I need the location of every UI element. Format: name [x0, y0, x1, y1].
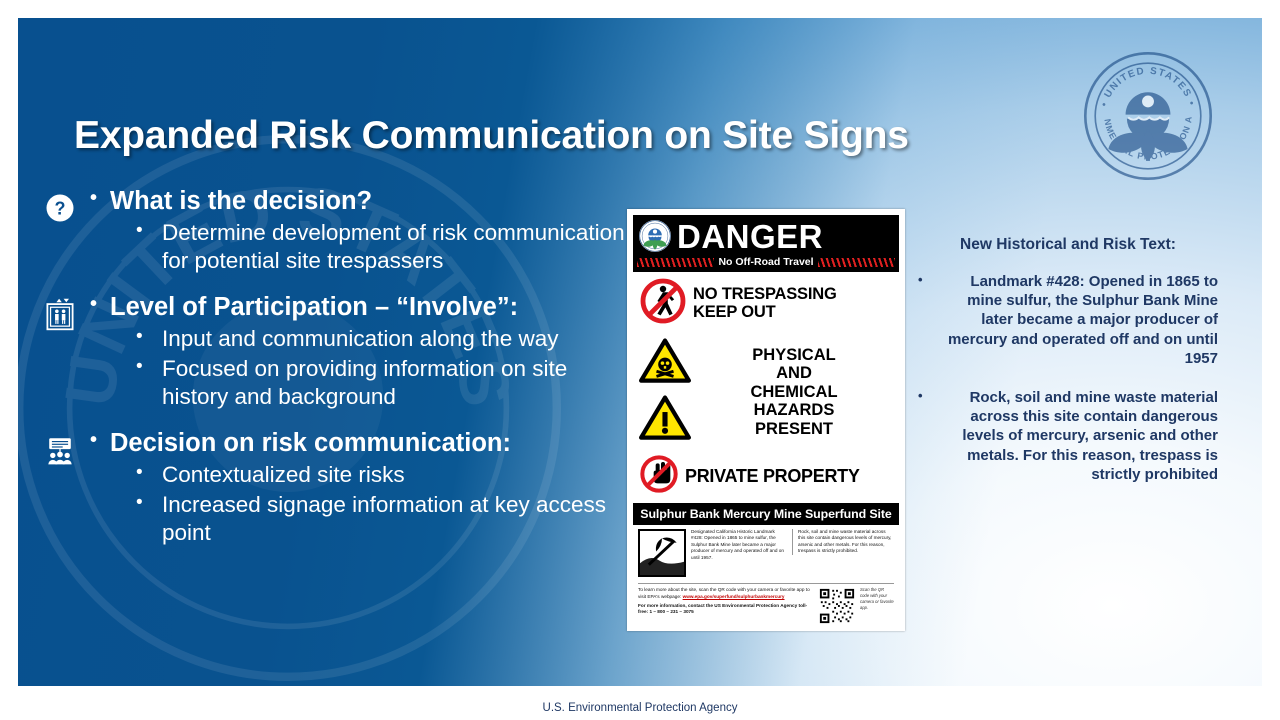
sign-sub-banner: No Off-Road Travel [633, 255, 899, 272]
sub-bullet-text: Increased signage information at key acc… [162, 491, 632, 549]
qr-code-icon [818, 587, 856, 625]
mine-pickaxe-icon [638, 529, 686, 577]
bullet-heading-text: Level of Participation – “Involve”: [110, 292, 518, 323]
sign-sub-banner-text: No Off-Road Travel [718, 256, 813, 268]
sign-info-right-text: Rock, soil and mine waste material acros… [792, 529, 894, 555]
list-item: • Input and communication along the way [136, 325, 632, 354]
sub-bullet-list: • Input and communication along the way … [136, 325, 632, 412]
sub-bullet-text: Input and communication along the way [162, 325, 559, 354]
sign-info-panel: Designated California Historic Landmark … [633, 525, 899, 581]
right-panel-item-text: Rock, soil and mine waste material acros… [934, 388, 1218, 484]
bullet-heading-text: What is the decision? [110, 186, 372, 217]
sub-bullet-text: Contextualized site risks [162, 461, 405, 490]
bullet-heading: • What is the decision? [90, 186, 632, 217]
no-entry-hand-icon [639, 454, 679, 499]
bullet-heading-text: Decision on risk communication: [110, 428, 511, 459]
hatch-stripes-right-icon [818, 258, 895, 267]
hazard-line: PRESENT [695, 420, 893, 438]
sub-bullet-text: Determine development of risk communicat… [162, 219, 632, 277]
presentation-audience-icon [42, 432, 78, 468]
hazard-line: CHEMICAL [695, 383, 893, 401]
bullet-group-decision: ? • What is the decision? • Determine de… [32, 186, 632, 276]
bullet-heading: • Level of Participation – “Involve”: [90, 292, 632, 323]
bullet-marker: • [918, 388, 934, 405]
bullet-marker: • [918, 272, 934, 289]
list-item: • Landmark #428: Opened in 1865 to mine … [918, 272, 1218, 368]
sign-hazard-text: PHYSICAL AND CHEMICAL HAZARDS PRESENT [695, 346, 893, 438]
hazard-line: AND [695, 364, 893, 382]
sub-bullet-marker: • [136, 325, 162, 350]
sign-footer-line-2: For more information, contact the US Env… [638, 603, 814, 617]
list-item: • Determine development of risk communic… [136, 219, 632, 277]
question-mark-circle-icon: ? [42, 190, 78, 226]
sign-site-name-bar: Sulphur Bank Mercury Mine Superfund Site [633, 503, 899, 525]
bullet-column: ? • What is the decision? • Determine de… [32, 186, 632, 564]
bullet-group-risk-communication: • Decision on risk communication: • Cont… [32, 428, 632, 548]
sign-private-property-text: PRIVATE PROPERTY [685, 466, 860, 487]
bullet-heading: • Decision on risk communication: [90, 428, 632, 459]
svg-text:?: ? [55, 198, 66, 218]
sub-bullet-marker: • [136, 219, 162, 244]
list-item: • Focused on providing information on si… [136, 355, 632, 413]
list-item: • Increased signage information at key a… [136, 491, 632, 549]
right-panel-item-text: Landmark #428: Opened in 1865 to mine su… [934, 272, 1218, 368]
slide: UNITED STATES • UNITED STATES • ENVIRONM… [18, 18, 1262, 686]
sub-bullet-list: • Determine development of risk communic… [136, 219, 632, 277]
sign-no-trespassing-text: NO TRESPASSING KEEP OUT [693, 286, 837, 321]
people-elevator-icon [42, 296, 78, 332]
epa-webpage-link[interactable]: www.epa.gov/superfund/sulphurbankmercury [683, 594, 785, 599]
list-item: • Rock, soil and mine waste material acr… [918, 388, 1218, 484]
bullet-group-participation: • Level of Participation – “Involve”: • … [32, 292, 632, 412]
sign-no-trespassing-row: NO TRESPASSING KEEP OUT [633, 272, 899, 332]
epa-seal-icon: • UNITED STATES • ENVIRONMENTAL PROTECTI… [1082, 50, 1214, 182]
no-trespassing-line-1: NO TRESPASSING [693, 286, 837, 303]
right-text-panel: New Historical and Risk Text: • Landmark… [918, 236, 1218, 504]
sign-private-property-row: PRIVATE PROPERTY [633, 452, 899, 503]
warning-exclamation-triangle-icon [639, 395, 691, 446]
sign-danger-header: DANGER [633, 215, 899, 255]
sign-footer-text: To learn more about the site, scan the Q… [638, 587, 814, 616]
bullet-marker: • [90, 292, 110, 317]
sign-info-left-text: Designated California Historic Landmark … [691, 529, 787, 561]
sign-footer: To learn more about the site, scan the Q… [638, 583, 894, 625]
sub-bullet-marker: • [136, 461, 162, 486]
sub-bullet-marker: • [136, 491, 162, 516]
sub-bullet-text: Focused on providing information on site… [162, 355, 632, 413]
sign-danger-word: DANGER [677, 220, 823, 253]
page-title: Expanded Risk Communication on Site Sign… [74, 114, 974, 158]
hazard-triangles [639, 338, 691, 446]
hazard-line: HAZARDS [695, 401, 893, 419]
epa-seal-icon [638, 219, 672, 253]
hatch-stripes-left-icon [637, 258, 714, 267]
right-panel-title: New Historical and Risk Text: [918, 236, 1218, 254]
sub-bullet-marker: • [136, 355, 162, 380]
list-item: • Contextualized site risks [136, 461, 632, 490]
slide-footer: U.S. Environmental Protection Agency [0, 702, 1280, 714]
bullet-marker: • [90, 428, 110, 453]
bullet-marker: • [90, 186, 110, 211]
sign-hazards-row: PHYSICAL AND CHEMICAL HAZARDS PRESENT [633, 338, 899, 446]
toxic-skull-triangle-icon [639, 338, 691, 389]
sub-bullet-list: • Contextualized site risks • Increased … [136, 461, 632, 548]
danger-sign-image: DANGER No Off-Road Travel NO TRESPASSING… [627, 209, 905, 631]
qr-code-note: Scan the QR code with your camera or fav… [860, 587, 894, 611]
no-trespassing-line-2: KEEP OUT [693, 304, 837, 321]
hazard-line: PHYSICAL [695, 346, 893, 364]
no-pedestrian-icon [639, 277, 687, 330]
